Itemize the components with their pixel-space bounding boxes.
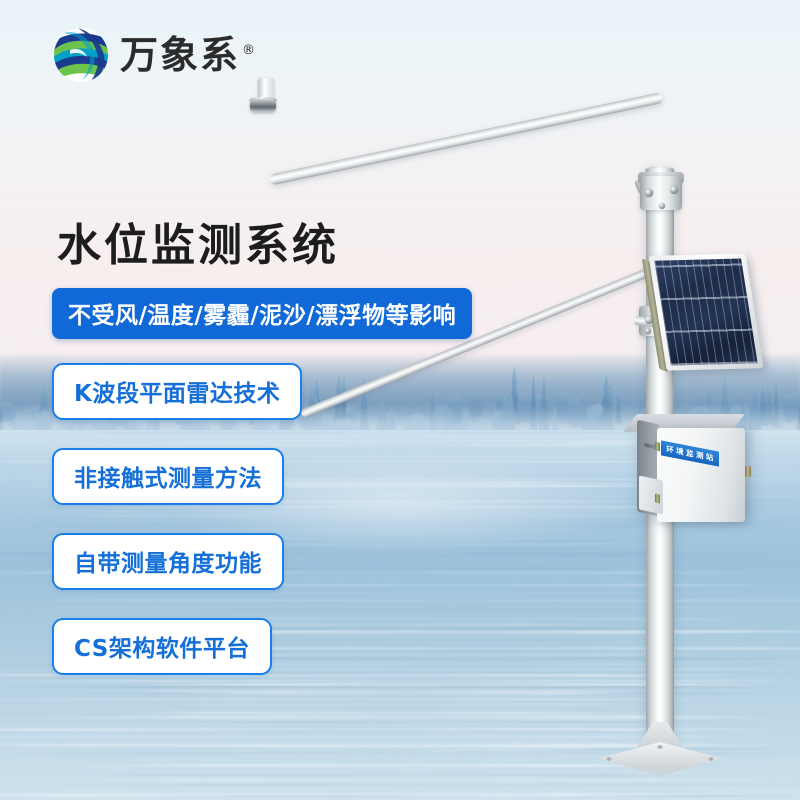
base-bolt-hole bbox=[606, 757, 612, 761]
base-reflection bbox=[596, 770, 724, 788]
feature-row: 非接触式测量方法 bbox=[52, 448, 302, 533]
control-box-hinge bbox=[655, 493, 660, 503]
control-box-label-char: 监 bbox=[686, 449, 694, 458]
control-box-latch bbox=[745, 466, 751, 477]
globe-swirl-logo-icon bbox=[52, 26, 110, 84]
horizontal-cantilever-arm bbox=[269, 92, 663, 185]
clamp-bolt-icon bbox=[645, 189, 653, 197]
control-box-hinge bbox=[655, 441, 660, 451]
clamp-bolt-icon bbox=[659, 203, 665, 209]
feature-pill: CS架构软件平台 bbox=[52, 618, 272, 675]
base-bolt-hole bbox=[657, 745, 663, 749]
product-poster: 环境监测站 bbox=[0, 0, 800, 800]
clamp-bolt-icon bbox=[670, 186, 678, 194]
feature-list: K波段平面雷达技术非接触式测量方法自带测量角度功能CS架构软件平台 bbox=[52, 363, 302, 703]
radar-level-sensor-head bbox=[250, 99, 276, 112]
brand-name: 万象系® bbox=[120, 36, 257, 74]
sub-banner: 不受风/温度/雾霾/泥沙/漂浮物等影响 bbox=[52, 288, 472, 339]
panel-clamp-bolt-icon bbox=[645, 328, 651, 334]
registered-mark: ® bbox=[242, 43, 257, 58]
brand-name-text: 万象系 bbox=[120, 33, 240, 77]
feature-row: CS架构软件平台 bbox=[52, 618, 302, 703]
feature-pill: 自带测量角度功能 bbox=[52, 533, 284, 590]
feature-pill: K波段平面雷达技术 bbox=[52, 363, 302, 420]
feature-row: 自带测量角度功能 bbox=[52, 533, 302, 618]
feature-row: K波段平面雷达技术 bbox=[52, 363, 302, 448]
page-title: 水位监测系统 bbox=[57, 209, 339, 273]
base-bolt-hole bbox=[708, 757, 714, 761]
control-box-label-char: 环 bbox=[666, 445, 674, 454]
solar-panel-cells bbox=[654, 259, 757, 366]
feature-pill: 非接触式测量方法 bbox=[52, 448, 284, 505]
control-box-label-char: 境 bbox=[676, 447, 684, 456]
control-box-label-char: 站 bbox=[706, 453, 714, 462]
panel-clamp-bolt-icon bbox=[645, 316, 653, 324]
solar-panel bbox=[649, 253, 764, 370]
control-box-label-char: 测 bbox=[696, 451, 704, 460]
brand-logo-block: 万象系® bbox=[52, 26, 257, 84]
